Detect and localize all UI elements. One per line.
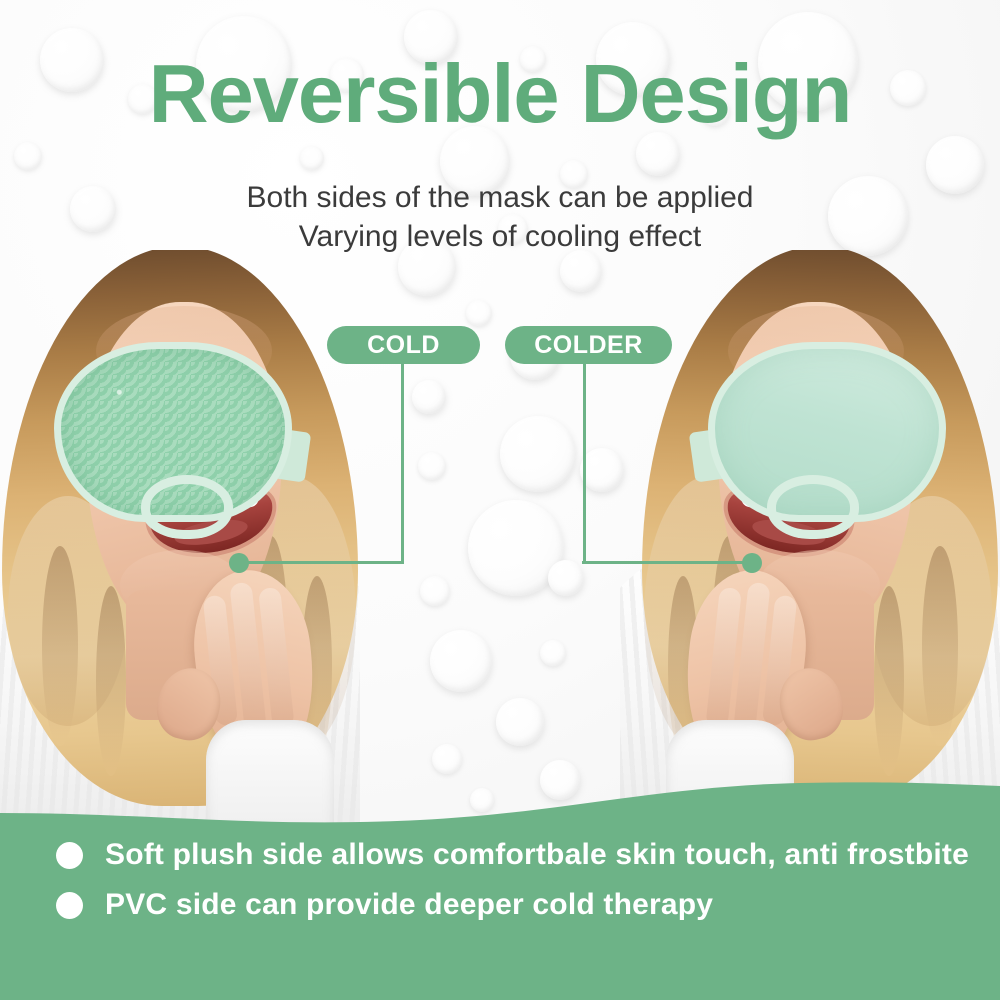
page-title: Reversible Design (0, 52, 1000, 135)
connector-line-horizontal-colder (582, 561, 752, 564)
connector-dot-colder (742, 553, 762, 573)
mask-nose-notch (776, 484, 850, 530)
bullet-dot-icon (56, 842, 83, 869)
feature-text: Soft plush side allows comfortbale skin … (105, 838, 969, 872)
eye-mask-gel-bead-side (54, 342, 292, 522)
mask-nose-notch (150, 484, 224, 530)
model-photo-right (620, 250, 1000, 830)
model-figure-right (620, 250, 1000, 830)
model-figure-left (0, 250, 360, 830)
model-photo-left (0, 250, 360, 830)
list-item: Soft plush side allows comfortbale skin … (0, 838, 1000, 872)
badge-colder: COLDER (505, 326, 672, 364)
list-item: PVC side can provide deeper cold therapy (0, 888, 1000, 922)
bullet-dot-icon (56, 892, 83, 919)
connector-dot-cold (229, 553, 249, 573)
badge-cold: COLD (327, 326, 480, 364)
connector-line-vertical-colder (583, 364, 586, 563)
feature-text: PVC side can provide deeper cold therapy (105, 888, 713, 922)
subtitle-line-1: Both sides of the mask can be applied (0, 178, 1000, 217)
eye-mask-plush-side (708, 342, 946, 522)
feature-list: Soft plush side allows comfortbale skin … (0, 838, 1000, 938)
connector-line-vertical-cold (401, 364, 404, 563)
feature-banner: Soft plush side allows comfortbale skin … (0, 780, 1000, 1000)
infographic-canvas: Reversible Design Both sides of the mask… (0, 0, 1000, 1000)
connector-line-horizontal-cold (240, 561, 404, 564)
page-subtitle: Both sides of the mask can be applied Va… (0, 178, 1000, 256)
